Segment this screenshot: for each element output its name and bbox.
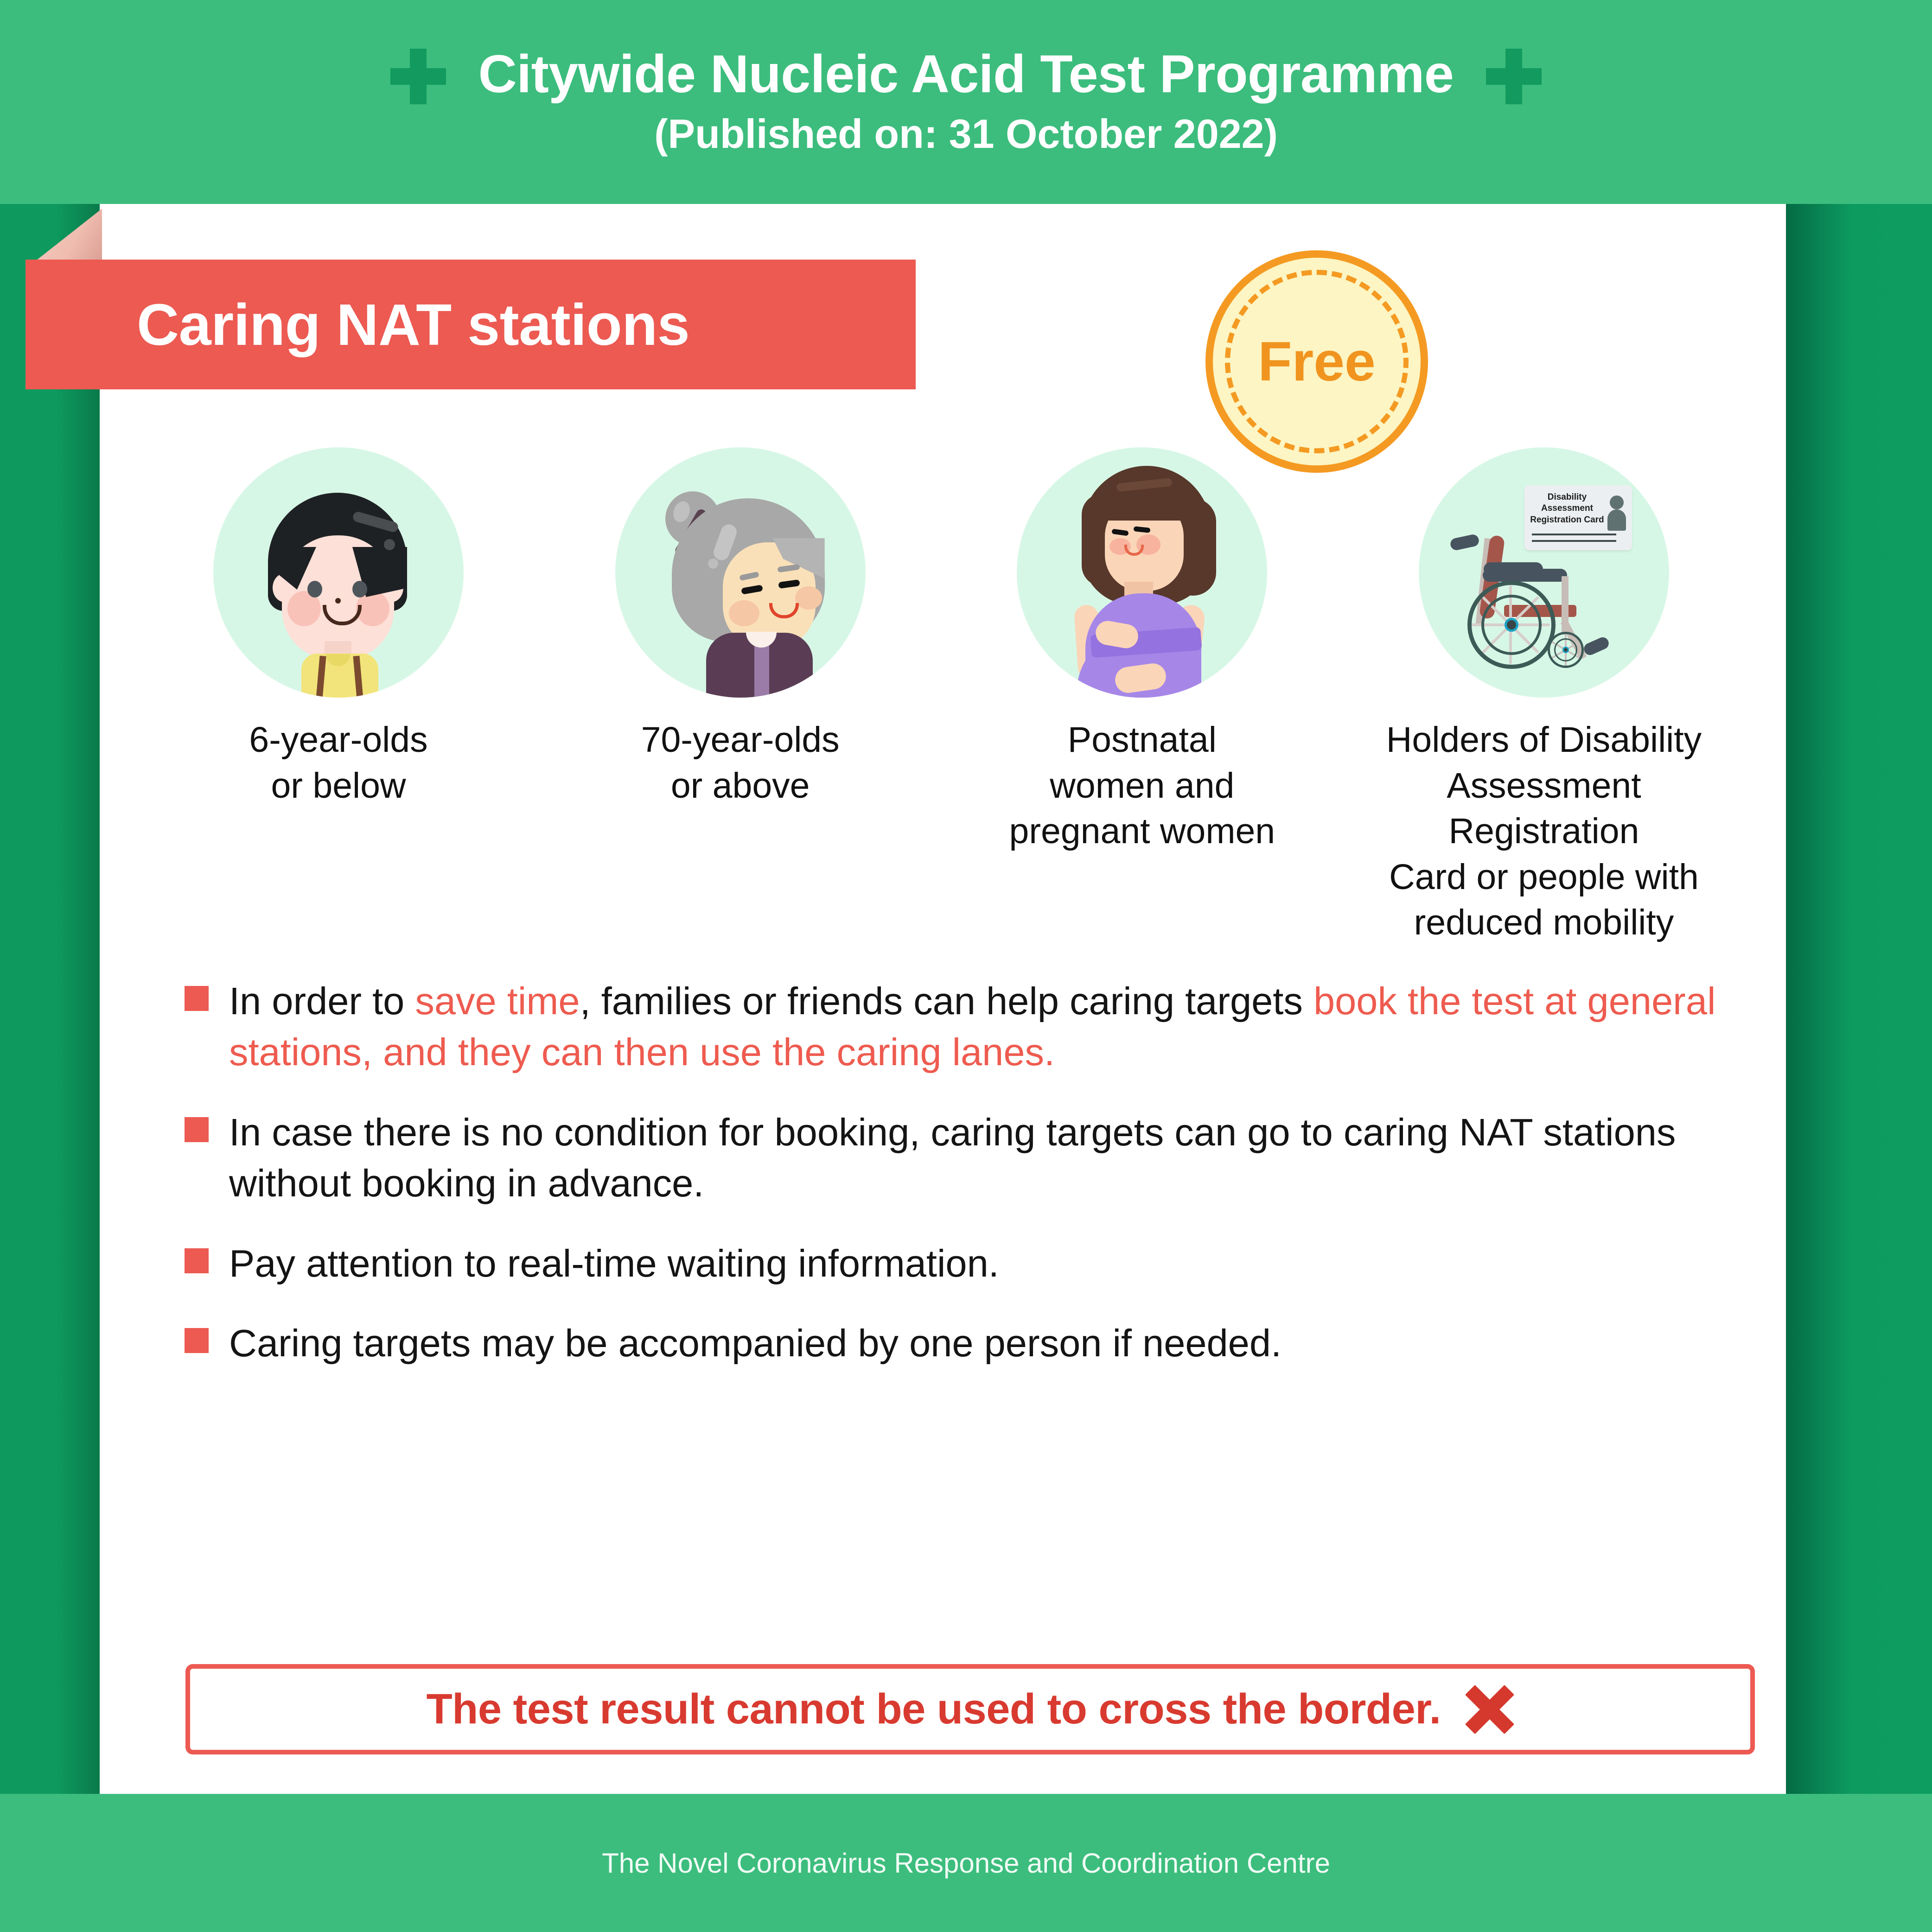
right-green-strip xyxy=(1786,204,1932,1794)
eligible-group-child: 6-year-oldsor below xyxy=(153,447,524,808)
wheelchair-disability-card-icon: Disability Assessment Registration Card xyxy=(1419,447,1669,698)
elderly-woman-avatar-icon xyxy=(615,447,866,698)
bullet-square-icon xyxy=(185,1248,209,1273)
pregnant-caption: Postnatalwomen andpregnant women xyxy=(1009,717,1275,854)
card-line-2: Assessment xyxy=(1528,503,1606,514)
disability-caption: Holders of DisabilityAssessment Registra… xyxy=(1358,717,1729,946)
bullet-text-1: In order to save time, families or frien… xyxy=(229,976,1752,1078)
free-badge-label: Free xyxy=(1213,330,1421,394)
warning-box: The test result cannot be used to cross … xyxy=(185,1664,1755,1754)
bullet-text-4: Caring targets may be accompanied by one… xyxy=(229,1318,1282,1369)
eligible-groups-row: 6-year-oldsor below 70-year-oldsor above xyxy=(153,447,1729,892)
list-item: Caring targets may be accompanied by one… xyxy=(185,1318,1752,1369)
list-item: In case there is no condition for bookin… xyxy=(185,1107,1752,1209)
page-footer: The Novel Coronavirus Response and Coord… xyxy=(0,1794,1932,1932)
page-subtitle: (Published on: 31 October 2022) xyxy=(478,108,1454,160)
footer-text: The Novel Coronavirus Response and Coord… xyxy=(602,1847,1330,1879)
list-item: Pay attention to real-time waiting infor… xyxy=(185,1238,1752,1289)
section-ribbon: Caring NAT stations xyxy=(26,260,916,389)
warning-text: The test result cannot be used to cross … xyxy=(426,1685,1441,1734)
eligible-group-pregnant: Postnatalwomen andpregnant women xyxy=(956,447,1327,854)
elderly-caption: 70-year-oldsor above xyxy=(641,717,840,808)
list-item: In order to save time, families or frien… xyxy=(185,976,1752,1078)
free-badge: Free xyxy=(1205,250,1428,473)
bullet-text-3: Pay attention to real-time waiting infor… xyxy=(229,1238,999,1289)
child-caption: 6-year-oldsor below xyxy=(249,717,427,808)
x-cross-icon xyxy=(1464,1684,1514,1735)
instruction-list: In order to save time, families or frien… xyxy=(185,976,1752,1388)
bullet-square-icon xyxy=(185,1117,209,1142)
plus-cross-icon-left xyxy=(390,49,446,104)
bullet-text-2: In case there is no condition for bookin… xyxy=(229,1107,1752,1209)
card-line-3: Registration Card xyxy=(1528,515,1606,526)
page-header: Citywide Nucleic Acid Test Programme (Pu… xyxy=(0,0,1932,204)
plus-cross-icon-right xyxy=(1486,49,1542,104)
left-green-strip xyxy=(0,204,100,1794)
ribbon-label: Caring NAT stations xyxy=(137,291,689,358)
eligible-group-disability: Disability Assessment Registration Card xyxy=(1358,447,1729,946)
card-line-1: Disability xyxy=(1528,492,1606,503)
page-title: Citywide Nucleic Acid Test Programme xyxy=(478,44,1454,105)
bullet-square-icon xyxy=(185,986,209,1011)
disability-card: Disability Assessment Registration Card xyxy=(1524,485,1632,550)
bullet-square-icon xyxy=(185,1328,209,1353)
pregnant-woman-avatar-icon xyxy=(1017,447,1267,698)
eligible-group-elderly: 70-year-oldsor above xyxy=(555,447,926,808)
card-photo-icon xyxy=(1610,496,1624,509)
child-avatar-icon xyxy=(213,447,464,698)
